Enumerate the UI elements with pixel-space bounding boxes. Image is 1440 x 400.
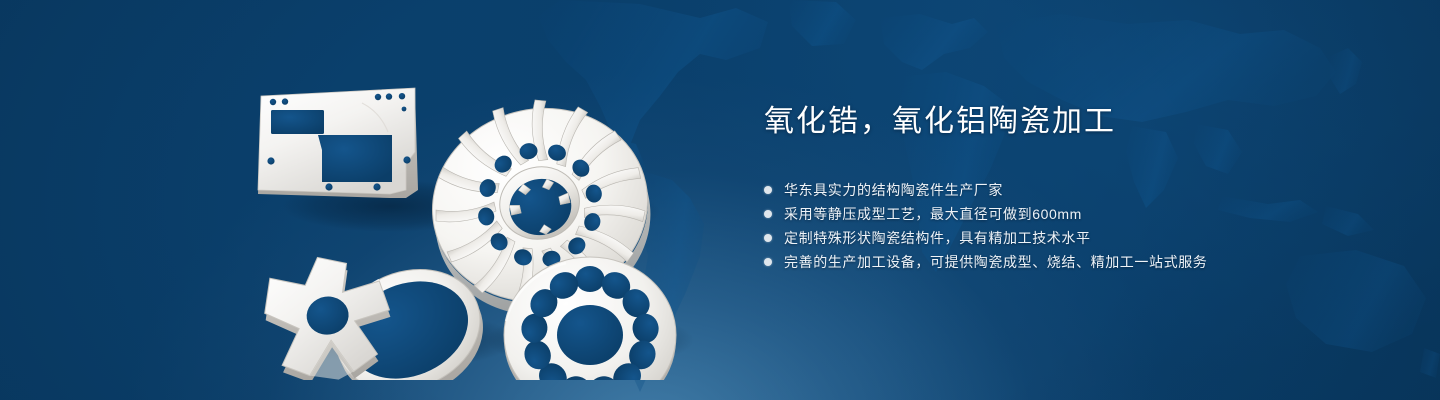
plate-cutout-rect-small — [271, 110, 324, 134]
ceramic-parts-svg — [230, 40, 700, 380]
plate-hole — [267, 157, 274, 164]
product-photo-group — [230, 40, 700, 380]
plate-hole — [403, 156, 410, 163]
plate-cutout-rect-large — [318, 135, 392, 182]
list-item: 定制特殊形状陶瓷结构件，具有精加工技术水平 — [764, 226, 1364, 249]
disc-center-bore — [557, 305, 623, 365]
list-item-label: 华东具实力的结构陶瓷件生产厂家 — [784, 180, 1003, 200]
plate-hole — [402, 107, 407, 112]
plate-hole — [375, 94, 381, 100]
list-item: 完善的生产加工设备，可提供陶瓷成型、烧结、精加工一站式服务 — [764, 250, 1364, 273]
page-title: 氧化锆，氧化铝陶瓷加工 — [764, 104, 1364, 140]
list-item-label: 定制特殊形状陶瓷结构件，具有精加工技术水平 — [784, 228, 1091, 248]
list-item-label: 采用等静压成型工艺，最大直径可做到600mm — [784, 204, 1082, 224]
plate-hole — [399, 93, 405, 99]
ceramic-cross-blade — [258, 249, 398, 380]
ceramic-mounting-plate — [258, 88, 418, 198]
plate-hole — [386, 93, 392, 99]
dot-bullet-icon — [764, 210, 772, 218]
plate-hole — [282, 98, 288, 104]
feature-list: 华东具实力的结构陶瓷件生产厂家 采用等静压成型工艺，最大直径可做到600mm 定… — [764, 178, 1364, 273]
plate-hole — [270, 99, 276, 105]
dot-bullet-icon — [764, 186, 772, 194]
promo-banner: 氧化锆，氧化铝陶瓷加工 华东具实力的结构陶瓷件生产厂家 采用等静压成型工艺，最大… — [0, 0, 1440, 400]
list-item-label: 完善的生产加工设备，可提供陶瓷成型、烧结、精加工一站式服务 — [784, 252, 1207, 272]
list-item: 采用等静压成型工艺，最大直径可做到600mm — [764, 202, 1364, 225]
plate-hole — [325, 183, 332, 190]
dot-bullet-icon — [764, 258, 772, 266]
list-item: 华东具实力的结构陶瓷件生产厂家 — [764, 178, 1364, 201]
banner-text-panel: 氧化锆，氧化铝陶瓷加工 华东具实力的结构陶瓷件生产厂家 采用等静压成型工艺，最大… — [764, 104, 1364, 274]
plate-hole — [373, 183, 380, 190]
dot-bullet-icon — [764, 234, 772, 242]
